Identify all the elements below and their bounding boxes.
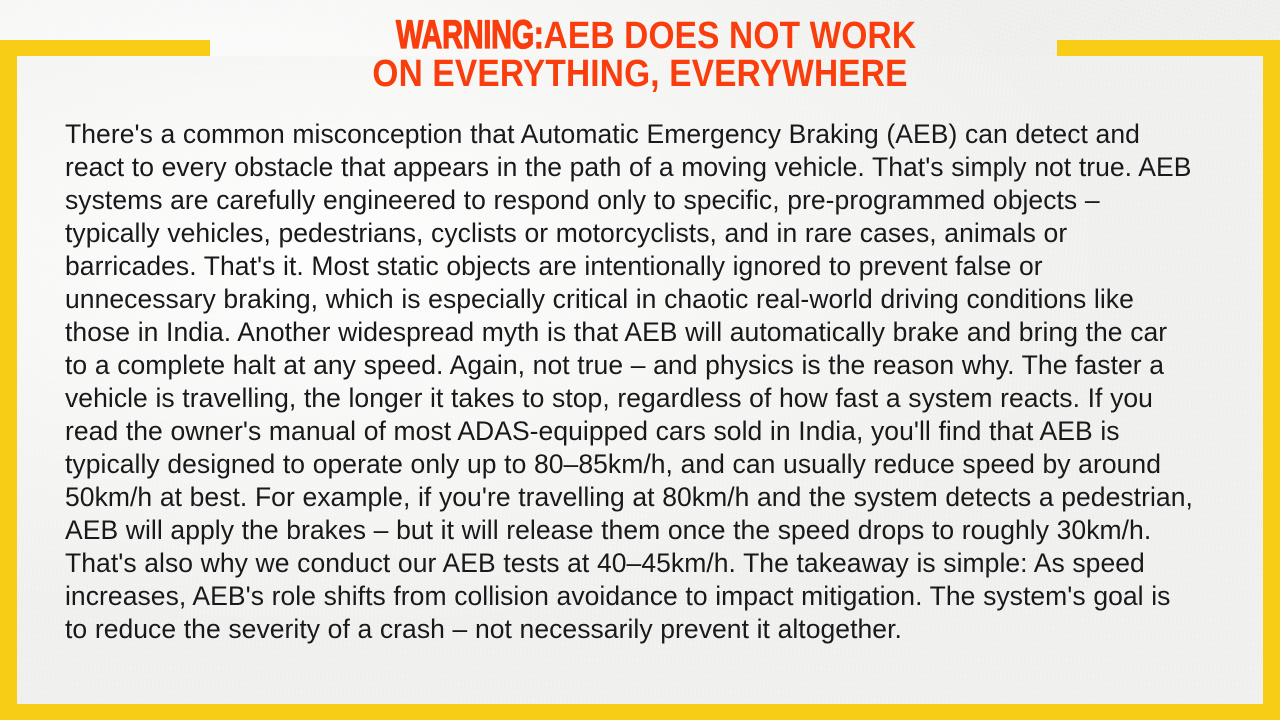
frame-bottom-border (0, 704, 1280, 720)
headline: WARNING: AEB DOES NOT WORK ON EVERYTHING… (0, 16, 1280, 93)
headline-warning-label: WARNING: (396, 16, 543, 56)
body-text-card: There's a common misconception that Auto… (17, 56, 1263, 704)
headline-line-1-rest: AEB DOES NOT WORK (544, 18, 917, 56)
headline-line-1: WARNING: AEB DOES NOT WORK (77, 16, 1203, 56)
headline-line-2: ON EVERYTHING, EVERYWHERE (77, 56, 1203, 94)
frame-left-border (0, 40, 17, 720)
warning-info-card: There's a common misconception that Auto… (0, 0, 1280, 720)
body-paragraph: There's a common misconception that Auto… (65, 118, 1195, 646)
frame-right-border (1263, 40, 1280, 720)
